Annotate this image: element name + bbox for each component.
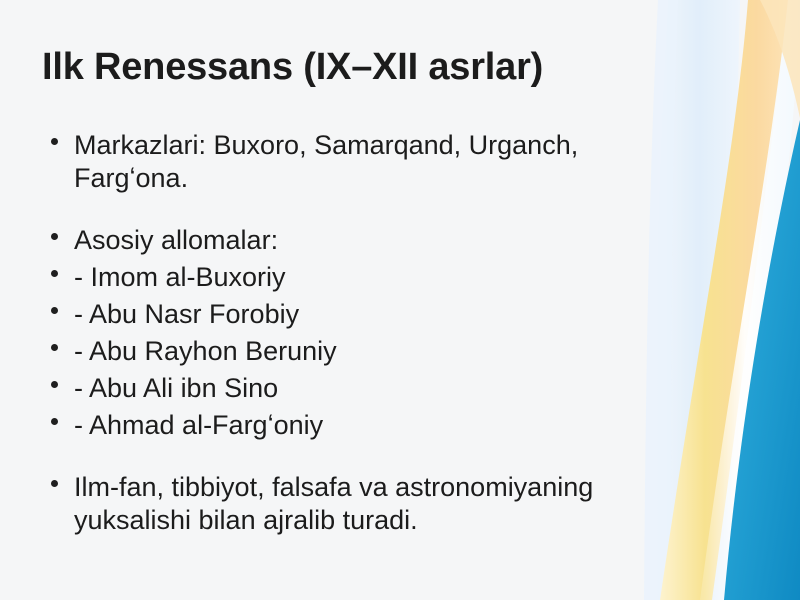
white-separator-band: [700, 0, 800, 600]
bullet-dot-icon: [51, 138, 58, 145]
list-item: Asosiy allomalar:: [46, 224, 686, 257]
slide-title: Ilk Renessans (IX–XII asrlar): [42, 45, 682, 89]
teal-shape: [724, 120, 800, 600]
list-item: Markazlari: Buxoro, Samarqand, Urganch, …: [46, 129, 686, 195]
list-item: - Abu Nasr Forobiy: [46, 298, 686, 331]
slide-canvas: Ilk Renessans (IX–XII asrlar) Markazlari…: [0, 0, 800, 600]
peach-top-corner: [760, 0, 800, 118]
bullet-text: - Ahmad al-Fargʻoniy: [74, 409, 686, 442]
bullet-dot-icon: [51, 307, 58, 314]
bullet-text: - Imom al-Buxoriy: [74, 261, 686, 294]
bullet-text: - Abu Nasr Forobiy: [74, 298, 686, 331]
list-item: Ilm-fan, tibbiyot, falsafa va astronomiy…: [46, 471, 686, 537]
slide-bullet-list: Markazlari: Buxoro, Samarqand, Urganch, …: [46, 100, 686, 537]
list-item: - Imom al-Buxoriy: [46, 261, 686, 294]
list-item: - Ahmad al-Fargʻoniy: [46, 409, 686, 442]
bullet-text: Asosiy allomalar:: [74, 224, 686, 257]
list-item: - Abu Ali ibn Sino: [46, 372, 686, 405]
list-item: - Abu Rayhon Beruniy: [46, 335, 686, 368]
bullet-dot-icon: [51, 480, 58, 487]
bullet-dot-icon: [51, 418, 58, 425]
bullet-text: - Abu Ali ibn Sino: [74, 372, 686, 405]
bullet-text: Markazlari: Buxoro, Samarqand, Urganch, …: [74, 129, 686, 195]
bullet-text: Ilm-fan, tibbiyot, falsafa va astronomiy…: [74, 471, 686, 537]
bullet-dot-icon: [51, 344, 58, 351]
bullet-dot-icon: [51, 270, 58, 277]
bullet-dot-icon: [51, 381, 58, 388]
bullet-text: - Abu Rayhon Beruniy: [74, 335, 686, 368]
bullet-dot-icon: [51, 233, 58, 240]
